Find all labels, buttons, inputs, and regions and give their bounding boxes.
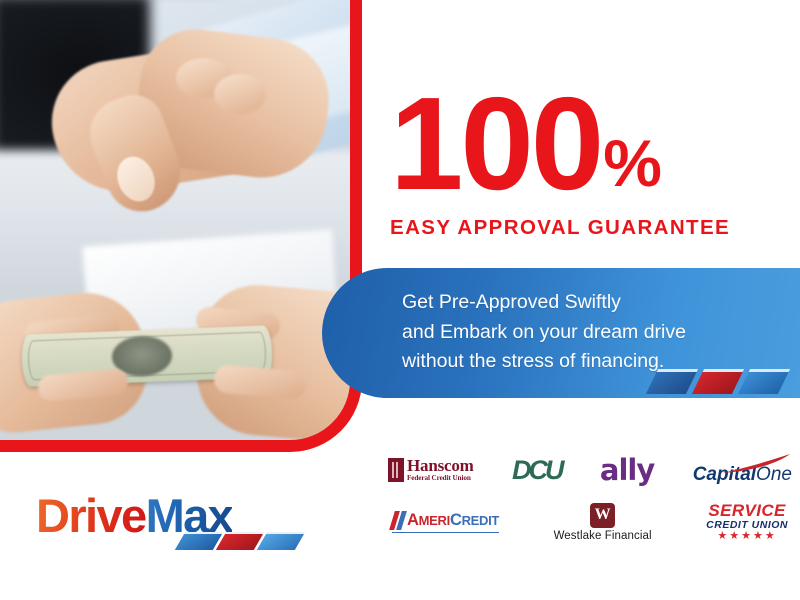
headline-number: 100 — [390, 78, 601, 210]
dcu-wordmark: DCU — [512, 455, 562, 486]
callout-line-1: Get Pre-Approved Swiftly — [402, 288, 686, 318]
credit-text: C — [450, 511, 462, 529]
lender-row-1: Hanscom Federal Credit Union DCU ally Ca… — [388, 444, 792, 496]
photo-composition — [0, 0, 350, 440]
americredit-wordmark: AMERICREDIT — [407, 512, 499, 529]
lender-capital-one[interactable]: CapitalOne — [693, 456, 792, 484]
drivemax-logo[interactable]: DriveMax — [36, 492, 306, 539]
photo-knuckle — [214, 74, 266, 114]
callout-text: Get Pre-Approved Swiftly and Embark on y… — [402, 288, 686, 377]
logo-chevron-group — [180, 532, 300, 550]
headline-block: 100 % EASY APPROVAL GUARANTEE — [390, 78, 790, 240]
lender-service-credit-union[interactable]: SERVICE CREDIT UNION ★★★★★ — [706, 502, 788, 543]
logo-drive-text: Drive — [36, 489, 146, 542]
americredit-underline — [392, 532, 499, 534]
lender-ally[interactable]: ally — [600, 453, 654, 487]
chevron-blue-light-icon — [738, 369, 790, 394]
credit-small-text: REDIT — [462, 513, 500, 528]
callout-line-3: without the stress of financing. — [402, 347, 686, 377]
lender-americredit[interactable]: AMERICREDIT — [392, 511, 499, 534]
ameri-text: A — [407, 511, 419, 529]
service-text: SERVICE — [708, 502, 785, 519]
lender-logo-grid: Hanscom Federal Credit Union DCU ally Ca… — [388, 444, 792, 548]
chevron-blue-icon — [646, 369, 698, 394]
lender-dcu[interactable]: DCU — [512, 455, 562, 486]
lender-row-2: AMERICREDIT W Westlake Financial SERVICE… — [388, 496, 792, 548]
headline-subtitle: EASY APPROVAL GUARANTEE — [390, 216, 790, 240]
service-stars-icon: ★★★★★ — [717, 531, 776, 542]
callout-line-2: and Embark on your dream drive — [402, 318, 686, 348]
capital-one-swoosh-icon — [720, 454, 794, 474]
hanscom-name: Hanscom — [407, 457, 474, 474]
percent-symbol: % — [603, 130, 662, 196]
ally-wordmark: ally — [600, 453, 654, 487]
westlake-w-icon: W — [590, 503, 615, 528]
hanscom-crest-icon — [388, 458, 404, 482]
chevron-red-icon — [692, 369, 744, 394]
hero-photo — [0, 0, 362, 452]
logo-chevron-lightblue-icon — [257, 532, 305, 550]
ameri-small-text: MERI — [419, 513, 450, 528]
red-accent-bar — [350, 0, 362, 268]
promo-banner: 100 % EASY APPROVAL GUARANTEE Get Pre-Ap… — [0, 0, 800, 600]
callout-panel: Get Pre-Approved Swiftly and Embark on y… — [322, 268, 800, 398]
percent-row: 100 % — [390, 78, 790, 210]
credit-union-text: CREDIT UNION — [706, 520, 788, 531]
chevron-accent-group — [652, 369, 784, 394]
lender-westlake[interactable]: W Westlake Financial — [554, 503, 652, 542]
americredit-slash-icon — [392, 511, 404, 530]
lender-hanscom[interactable]: Hanscom Federal Credit Union — [388, 457, 474, 482]
hanscom-tagline: Federal Credit Union — [407, 475, 474, 482]
westlake-wordmark: Westlake Financial — [554, 530, 652, 542]
